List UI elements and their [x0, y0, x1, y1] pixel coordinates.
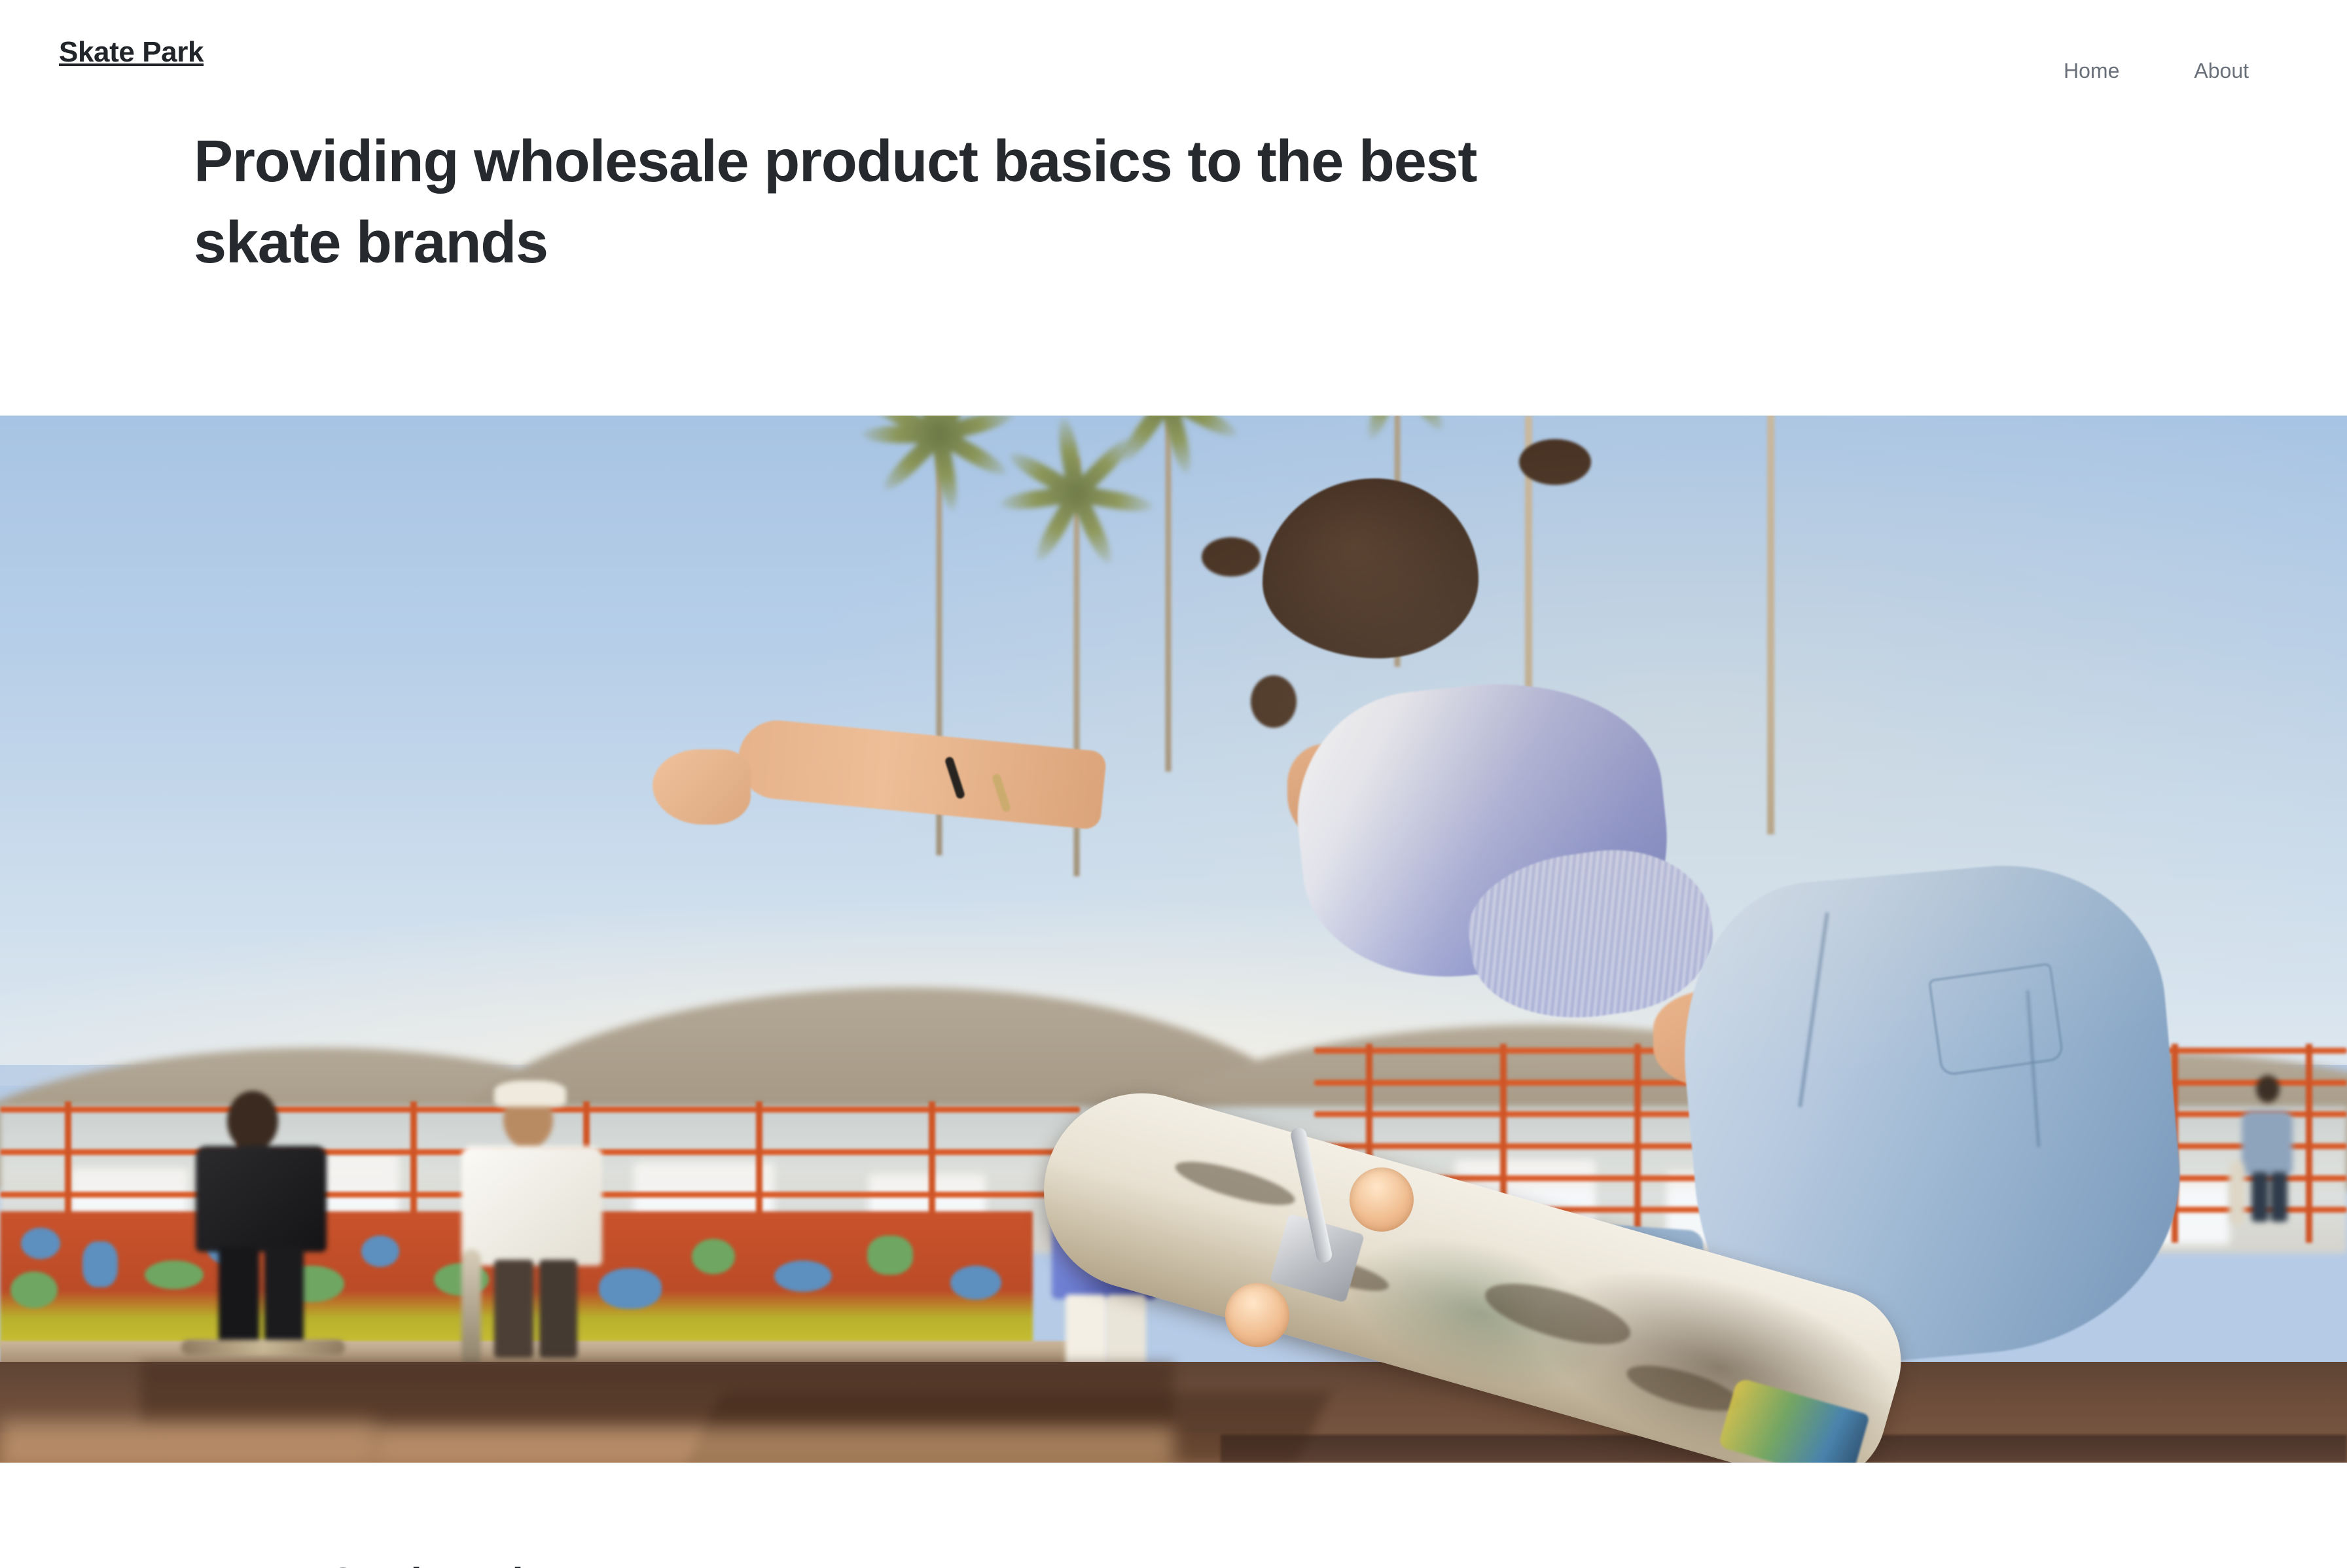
person-black-outfit: [190, 1091, 334, 1342]
below-fold-section: Our brands: [0, 1463, 2347, 1568]
nav-link-about[interactable]: About: [2194, 60, 2249, 81]
skatepark-photo: [0, 416, 2347, 1463]
site-logo[interactable]: Skate Park: [59, 38, 204, 67]
main-skater: [1080, 478, 2301, 1463]
skater-hair: [1263, 478, 1478, 658]
skater-hand: [653, 749, 751, 825]
hero-image: [0, 416, 2347, 1463]
section-heading: Our brands: [327, 1563, 546, 1568]
main-navigation: Home About: [2064, 60, 2249, 81]
page-title: Providing wholesale product basics to th…: [194, 121, 1634, 283]
nav-link-home[interactable]: Home: [2064, 60, 2119, 81]
site-header: Skate Park Home About: [0, 0, 2347, 118]
person-white-shirt-cap: [458, 1086, 609, 1358]
jeans-pocket: [1927, 963, 2064, 1077]
hero-headline-section: Providing wholesale product basics to th…: [0, 118, 2347, 416]
